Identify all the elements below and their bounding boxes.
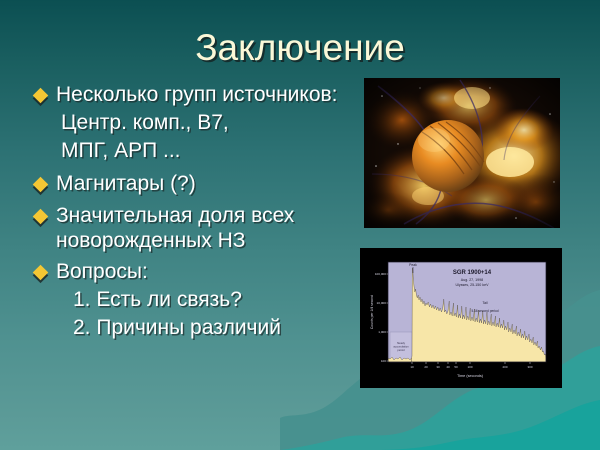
svg-text:10,000: 10,000 [377,301,387,305]
bullet-item-4-label: Вопросы: [56,259,360,284]
svg-text:1,000: 1,000 [378,330,386,334]
bullet-item-1-subline-1: Центр. комп., В7, [61,109,360,137]
bullet-item-2-label: Магнитары (?) [56,171,360,196]
svg-text:Ulysses, 25-150 keV: Ulysses, 25-150 keV [456,283,490,287]
bullet-item-2: Магнитары (?) [30,171,360,197]
svg-text:100: 100 [381,359,386,363]
svg-text:Time (seconds): Time (seconds) [457,374,484,378]
diamond-bullet-icon [30,179,56,205]
bullet-item-3-label: Значительная доля всех новорожденных НЗ [56,203,360,253]
svg-text:200: 200 [502,365,507,369]
presentation-slide: Заключение Несколько групп источников: Ц… [0,0,600,450]
bullet-item-1-label: Несколько групп источников: [56,82,360,107]
svg-text:period: period [397,348,405,352]
svg-text:40: 40 [446,365,450,369]
bullet-item-1-subline-2: МПГ, АРП ... [61,137,360,165]
sgr-1900-14-light-curve-image: Steady accumulation period SGR 1900+14 A… [360,248,562,388]
svg-text:100: 100 [467,365,472,369]
svg-text:Peak: Peak [409,263,417,267]
magnetar-artist-impression-image [364,78,560,228]
bullet-item-4: Вопросы: [30,259,360,285]
svg-text:Aug. 27, 1998: Aug. 27, 1998 [461,278,483,282]
svg-text:Steady: Steady [397,341,406,345]
svg-text:SGR 1900+14: SGR 1900+14 [453,270,492,276]
bullet-item-3: Значительная доля всех новорожденных НЗ [30,203,360,253]
svg-text:5.16 second period: 5.16 second period [471,309,498,313]
numbered-item-2: 2. Причины различий [73,314,360,342]
slide-title: Заключение [0,26,600,70]
svg-text:10: 10 [410,365,414,369]
svg-text:20: 20 [424,365,428,369]
bullet-list: Несколько групп источников: Центр. комп.… [30,82,360,342]
numbered-item-1: 1. Есть ли связь? [73,286,360,314]
diamond-bullet-icon [30,267,56,293]
svg-text:accumulation: accumulation [393,345,409,349]
svg-text:300: 300 [527,365,532,369]
svg-text:100,000: 100,000 [375,272,386,276]
svg-text:30: 30 [436,365,440,369]
bullet-item-1: Несколько групп источников: [30,82,360,108]
svg-text:50: 50 [454,365,458,369]
svg-text:Counts per 1/4 second: Counts per 1/4 second [370,295,374,329]
diamond-bullet-icon [30,211,56,237]
svg-text:Tail: Tail [482,301,487,305]
diamond-bullet-icon [30,90,56,116]
